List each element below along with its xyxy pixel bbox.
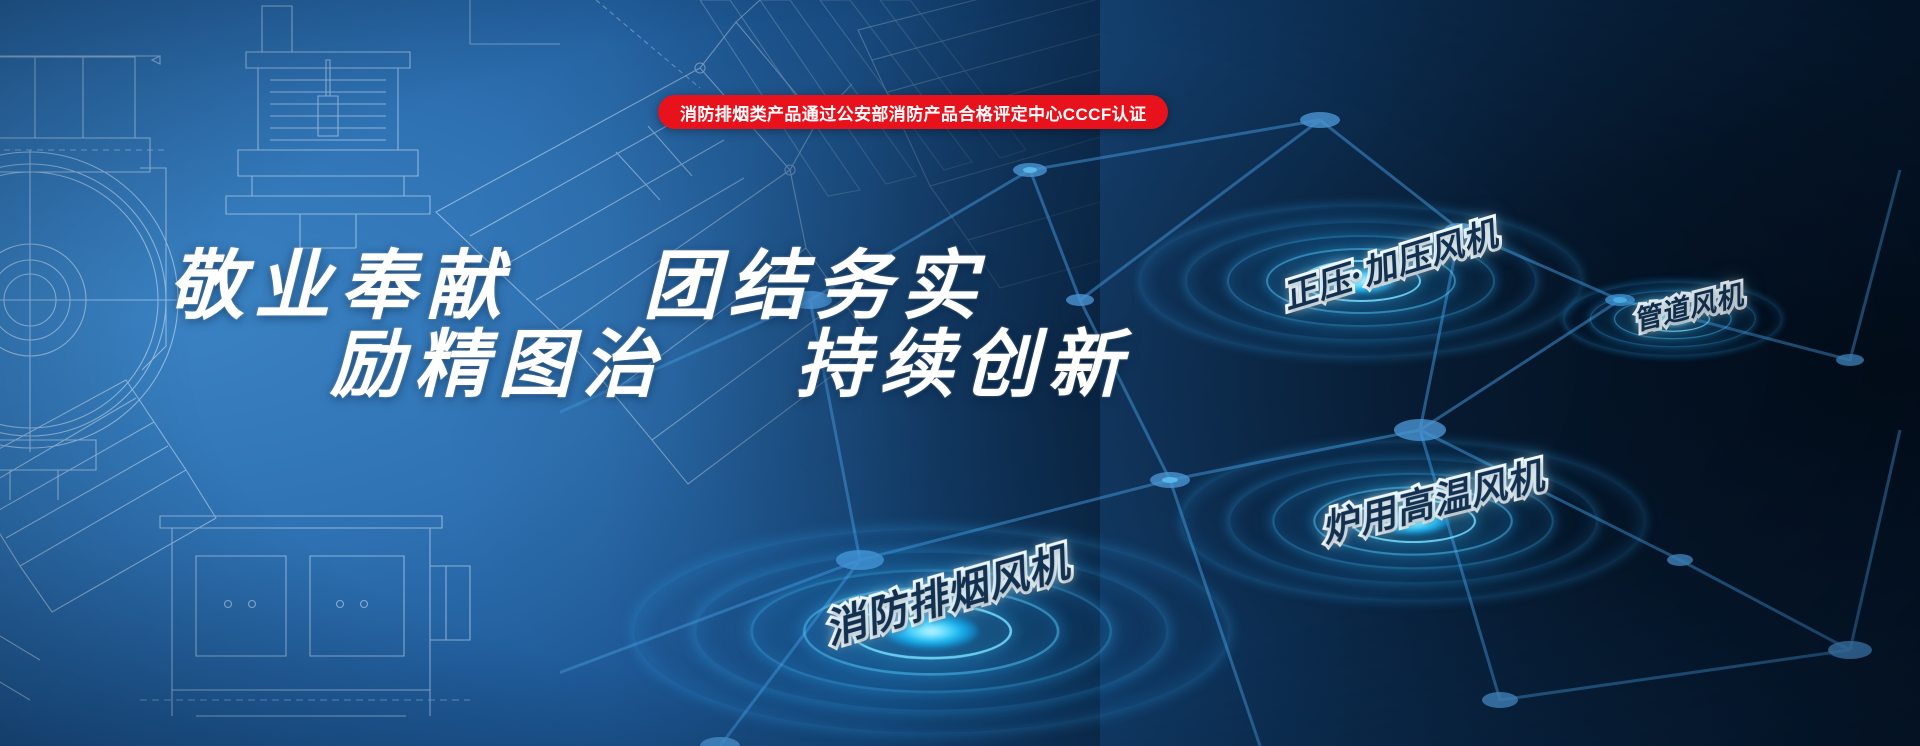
network-nodes xyxy=(700,112,1872,746)
network-edges xyxy=(560,120,1900,746)
slogan-line2-part1: 励精图治 xyxy=(330,322,666,408)
certification-badge[interactable]: 消防排烟类产品通过公安部消防产品合格评定中心CCCF认证 xyxy=(658,95,1168,129)
hero-banner: 正压·加压风机 管道风机 炉用高温风机 消防排烟风机 敬业奉献 团结务实 励精图… xyxy=(0,0,1920,746)
slogan-line2-part2: 持续创新 xyxy=(796,322,1132,408)
slogan-line-2: 励精图治 持续创新 xyxy=(330,305,1132,412)
